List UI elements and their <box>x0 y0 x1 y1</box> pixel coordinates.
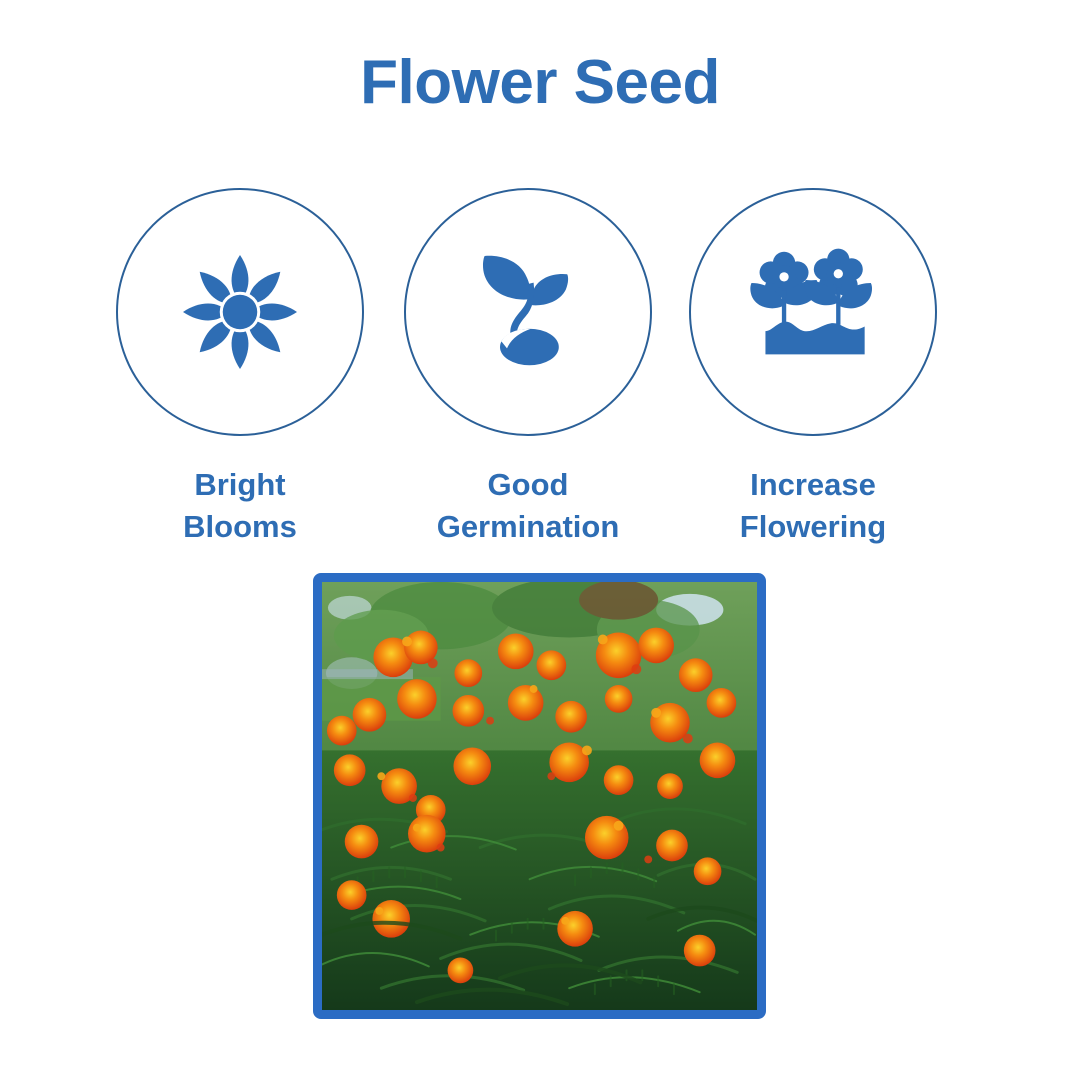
sprouting-seed-icon <box>458 242 598 382</box>
feature-bright-blooms[interactable]: Bright Blooms <box>100 188 380 548</box>
feature-label-good-germination: Good Germination <box>388 464 668 548</box>
product-photo-frame[interactable] <box>313 573 766 1019</box>
flowers-in-soil-icon <box>736 235 891 390</box>
feature-label-increase-flowering: Increase Flowering <box>673 464 953 548</box>
icon-circle-good-germination <box>404 188 652 436</box>
feature-label-bright-blooms: Bright Blooms <box>100 464 380 548</box>
icon-circle-increase-flowering <box>689 188 937 436</box>
icon-circle-bright-blooms <box>116 188 364 436</box>
product-photo <box>322 582 757 1010</box>
flower-eight-petal-icon <box>165 237 315 387</box>
feature-good-germination[interactable]: Good Germination <box>388 188 668 548</box>
feature-row: Bright Blooms <box>0 188 1080 558</box>
page-title: Flower Seed <box>0 52 1080 114</box>
infographic-root: Flower Seed <box>0 0 1080 1080</box>
feature-increase-flowering[interactable]: Increase Flowering <box>673 188 953 548</box>
